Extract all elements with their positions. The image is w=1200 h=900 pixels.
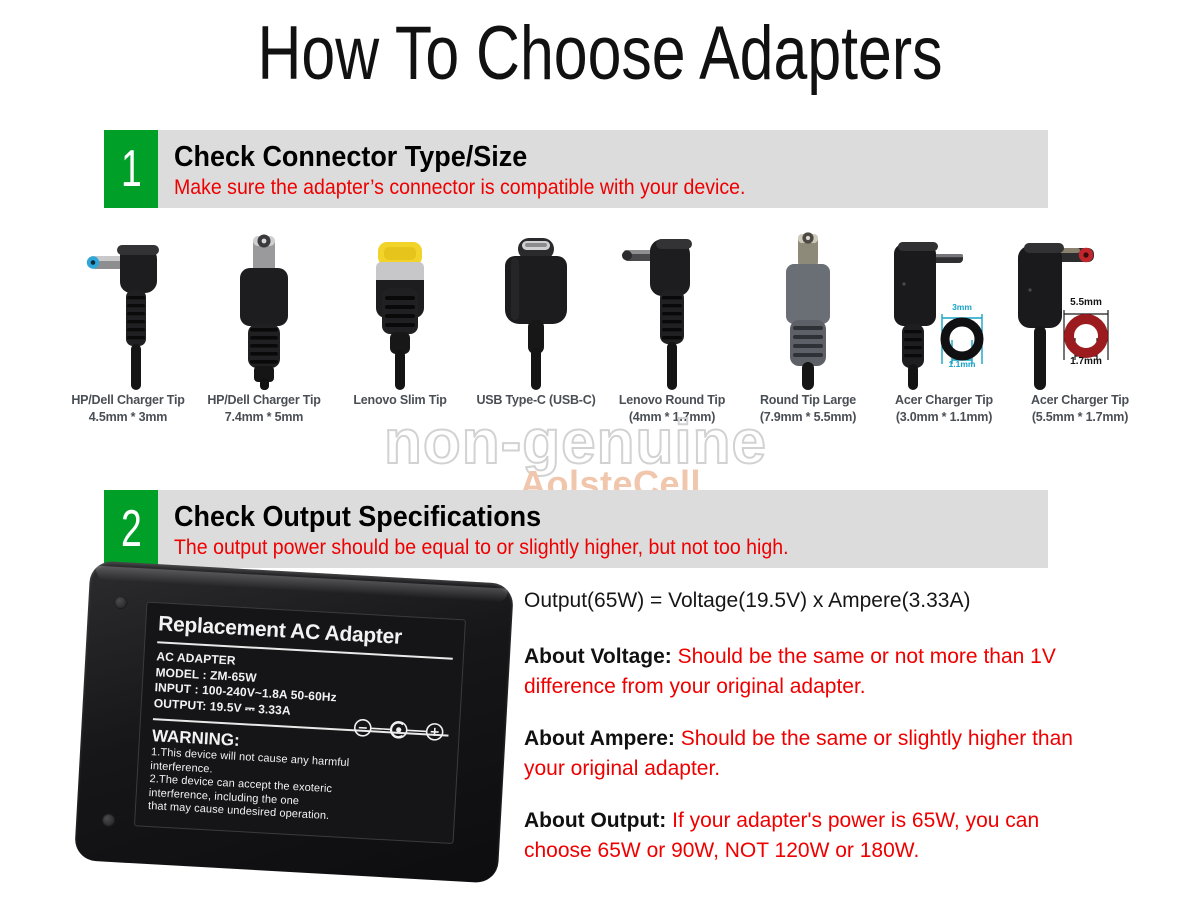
connector-usb-c-name: USB Type-C (USB-C) [462,392,610,409]
acer-55-dimension-callout [1064,310,1108,360]
adapter-body: Replacement AC Adapter AC ADAPTER MODEL … [74,560,514,883]
acer-30-outer-dim: 3mm [936,302,988,312]
connector-hp-dell-74: HP/Dell Charger Tip 7.4mm * 5mm [196,228,332,443]
step-1-header: 1 Check Connector Type/Size Make sure th… [104,130,1048,208]
about-output-key: About Output: [524,809,666,832]
step-1-number-badge: 1 [104,130,158,208]
about-voltage-key: About Voltage: [524,645,672,668]
connector-hp-dell-45-size: 4.5mm * 3mm [54,409,202,426]
connector-round-large-icon [740,228,876,390]
adapter-screw-bottom-left [102,813,116,827]
step-2-number-badge: 2 [104,490,158,568]
connector-lenovo-slim: Lenovo Slim Tip [332,228,468,443]
connector-round-large: Round Tip Large (7.9mm * 5.5mm) [740,228,876,443]
connector-acer-30-icon: 3mm 1.1mm [876,228,1012,390]
connector-gallery: HP/Dell Charger Tip 4.5mm * 3mm [60,228,1150,443]
about-voltage: About Voltage: Should be the same or not… [524,642,1094,702]
adapter-label-title: Replacement AC Adapter [158,611,455,652]
about-output: About Output: If your adapter's power is… [524,806,1094,866]
about-ampere-key: About Ampere: [524,727,675,750]
connector-hp-dell-45-icon [60,228,196,390]
connector-hp-dell-74-size: 7.4mm * 5mm [190,409,338,426]
output-spec-text: Output(65W) = Voltage(19.5V) x Ampere(3.… [524,586,1094,888]
connector-usb-c: USB Type-C (USB-C) [468,228,604,443]
connector-round-large-size: (7.9mm * 5.5mm) [734,409,882,426]
step-1-subtitle: Make sure the adapter’s connector is com… [174,174,987,202]
adapter-rating-label: Replacement AC Adapter AC ADAPTER MODEL … [134,602,466,845]
step-1-title: Check Connector Type/Size [174,140,987,174]
ac-adapter-photo: Replacement AC Adapter AC ADAPTER MODEL … [82,572,512,898]
connector-acer-30-name: Acer Charger Tip [870,392,1018,409]
connector-lenovo-round-size: (4mm * 1.7mm) [598,409,746,426]
connector-usb-c-icon [468,228,604,390]
connector-acer-30: 3mm 1.1mm Acer Charger Tip (3.0mm * 1.1m… [876,228,1012,443]
output-equation: Output(65W) = Voltage(19.5V) x Ampere(3.… [524,586,1094,616]
connector-hp-dell-45-name: HP/Dell Charger Tip [54,392,202,409]
step-2-subtitle: The output power should be equal to or s… [174,534,987,562]
connector-acer-55-size: (5.5mm * 1.7mm) [1006,409,1154,426]
about-ampere: About Ampere: Should be the same or slig… [524,724,1094,784]
connector-hp-dell-45-caption: HP/Dell Charger Tip 4.5mm * 3mm [54,392,202,426]
connector-lenovo-round-caption: Lenovo Round Tip (4mm * 1.7mm) [598,392,746,426]
step-2-text: Check Output Specifications The output p… [158,490,1048,568]
connector-lenovo-slim-icon [332,228,468,390]
infographic-page: How To Choose Adapters 1 Check Connector… [0,0,1200,900]
connector-hp-dell-45: HP/Dell Charger Tip 4.5mm * 3mm [60,228,196,443]
connector-round-large-caption: Round Tip Large (7.9mm * 5.5mm) [734,392,882,426]
connector-acer-55-caption: Acer Charger Tip (5.5mm * 1.7mm) [1006,392,1154,426]
acer-55-inner-dim: 1.7mm [1058,356,1114,367]
step-2-header: 2 Check Output Specifications The output… [104,490,1048,568]
connector-acer-30-caption: Acer Charger Tip (3.0mm * 1.1mm) [870,392,1018,426]
connector-lenovo-slim-caption: Lenovo Slim Tip [326,392,474,409]
connector-lenovo-round-name: Lenovo Round Tip [598,392,746,409]
connector-hp-dell-74-icon [196,228,332,390]
connector-round-large-name: Round Tip Large [734,392,882,409]
connector-usb-c-caption: USB Type-C (USB-C) [462,392,610,409]
connector-acer-55-icon: 5.5mm 1.7mm [1012,228,1148,390]
step-1-text: Check Connector Type/Size Make sure the … [158,130,1048,208]
connector-acer-55: 5.5mm 1.7mm Acer Charger Tip (5.5mm * 1.… [1012,228,1148,443]
step-2-number: 2 [121,503,142,555]
connector-hp-dell-74-caption: HP/Dell Charger Tip 7.4mm * 5mm [190,392,338,426]
connector-lenovo-round-icon [604,228,740,390]
acer-30-inner-dim: 1.1mm [934,359,990,369]
page-title: How To Choose Adapters [120,12,1080,96]
connector-hp-dell-74-name: HP/Dell Charger Tip [190,392,338,409]
adapter-screw-top-left [114,596,128,610]
acer-55-outer-dim: 5.5mm [1058,297,1114,308]
acer-30-dimension-callout [942,314,982,364]
connector-lenovo-slim-name: Lenovo Slim Tip [326,392,474,409]
connector-acer-55-name: Acer Charger Tip [1006,392,1154,409]
step-1-number: 1 [121,143,142,195]
step-2-title: Check Output Specifications [174,500,987,534]
connector-acer-30-size: (3.0mm * 1.1mm) [870,409,1018,426]
connector-lenovo-round: Lenovo Round Tip (4mm * 1.7mm) [604,228,740,443]
